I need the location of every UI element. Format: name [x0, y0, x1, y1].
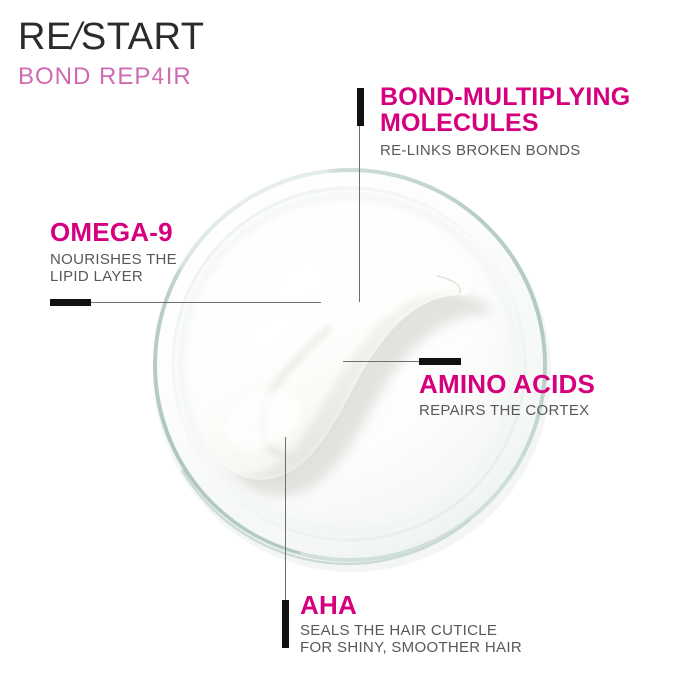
leader-line-amino-stem — [343, 361, 419, 362]
brand-wordmark-post: START — [81, 16, 205, 58]
callout-bond-title: BOND-MULTIPLYING MOLECULES — [380, 84, 680, 136]
callout-amino-subtitle: REPAIRS THE CORTEX — [419, 402, 679, 419]
brand-subwordmark-stylized-a: 4 — [152, 65, 165, 89]
leader-line-bond-marker — [357, 88, 364, 126]
leader-line-bond-stem — [359, 126, 360, 302]
callout-omega-subtitle: NOURISHES THE LIPID LAYER — [50, 251, 300, 286]
leader-line-aha-stem — [285, 437, 286, 600]
leader-line-omega-stem — [91, 302, 321, 303]
callout-omega-title: OMEGA-9 — [50, 219, 300, 246]
leader-line-omega-marker — [50, 299, 91, 306]
brand-subwordmark-post: IR — [166, 63, 192, 90]
callout-bond-multiplying-molecules: BOND-MULTIPLYING MOLECULES RE-LINKS BROK… — [380, 84, 680, 159]
callout-amino-acids: AMINO ACIDS REPAIRS THE CORTEX — [419, 371, 679, 419]
callout-omega-9: OMEGA-9 NOURISHES THE LIPID LAYER — [50, 219, 300, 286]
product-ingredient-infographic: RE/START BOND REP4IR BOND-MULTIPLYING MO… — [0, 0, 700, 700]
brand-subwordmark-pre: BOND REP — [18, 63, 151, 90]
leader-line-aha-marker — [282, 600, 289, 648]
brand-subwordmark: BOND REP4IR — [18, 65, 248, 89]
brand-wordmark-pre: RE — [18, 16, 72, 58]
callout-aha: AHA SEALS THE HAIR CUTICLE FOR SHINY, SM… — [300, 592, 600, 657]
callout-aha-title: AHA — [300, 592, 600, 619]
callout-aha-subtitle: SEALS THE HAIR CUTICLE FOR SHINY, SMOOTH… — [300, 622, 600, 657]
callout-amino-title: AMINO ACIDS — [419, 371, 679, 398]
callout-bond-subtitle: RE-LINKS BROKEN BONDS — [380, 142, 680, 159]
brand-logo: RE/START BOND REP4IR — [18, 18, 248, 89]
brand-wordmark: RE/START — [18, 18, 248, 56]
leader-line-amino-marker — [419, 358, 461, 365]
